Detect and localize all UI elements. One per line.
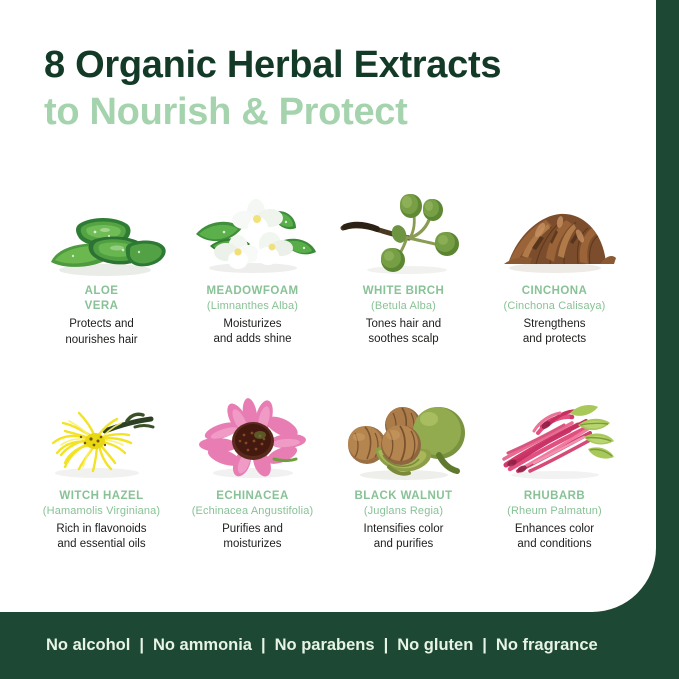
herb-description: Enhances color and conditions — [515, 522, 594, 553]
herb-description-line2: and purifies — [374, 538, 433, 550]
herb-card-rhubarb: RHUBARB (Rheum Palmatun) Enhances color … — [479, 391, 630, 596]
herb-description-line1: Strengthens — [523, 318, 585, 330]
white-left-edge-strip — [0, 0, 10, 612]
herb-description: Intensifies color and purifies — [364, 522, 444, 553]
herb-name: MEADOWFOAM — [206, 284, 298, 299]
infographic-page: 8 Organic Herbal Extracts to Nourish & P… — [0, 0, 679, 679]
herb-card-aloe-vera: ALOE VERA Protects and nourishes hair — [26, 186, 177, 391]
herb-description: Rich in flavonoids and essential oils — [56, 522, 146, 553]
herb-description-line2: soothes scalp — [368, 333, 438, 345]
herb-description-line1: Moisturizes — [223, 318, 281, 330]
herb-latin-name: (Echinacea Angustifolia) — [192, 504, 314, 518]
herb-description-line2: and protects — [523, 333, 586, 345]
herb-name: WHITE BIRCH — [363, 284, 445, 299]
herb-description: Moisturizes and adds shine — [213, 317, 291, 348]
echinacea-flower-icon — [186, 391, 320, 483]
herb-name: ALOE VERA — [85, 284, 119, 313]
herb-name: ECHINACEA — [216, 489, 288, 504]
page-title: 8 Organic Herbal Extracts — [44, 44, 634, 87]
herb-latin-name: (Hamamolis Virginiana) — [43, 504, 160, 518]
claim-separator: | — [473, 636, 496, 655]
herb-name: WITCH HAZEL — [59, 489, 143, 504]
herb-name: RHUBARB — [524, 489, 585, 504]
claim-separator: | — [375, 636, 398, 655]
herb-description-line1: Rich in flavonoids — [56, 523, 146, 535]
herb-latin-name: (Rheum Palmatun) — [507, 504, 602, 518]
herb-name: CINCHONA — [522, 284, 588, 299]
herb-name-line1: ALOE — [85, 285, 119, 297]
herb-description: Purifies and moisturizes — [222, 522, 283, 553]
claim-separator: | — [130, 636, 153, 655]
herb-card-black-walnut: BLACK WALNUT (Juglans Regia) Intensifies… — [328, 391, 479, 596]
herb-card-meadowfoam: MEADOWFOAM (Limnanthes Alba) Moisturizes… — [177, 186, 328, 391]
witch-hazel-flower-icon — [35, 391, 169, 483]
herb-latin-name: (Juglans Regia) — [364, 504, 443, 518]
aloe-vera-leaves-icon — [35, 186, 169, 278]
herb-description-line2: nourishes hair — [65, 334, 137, 346]
herb-description: Protects and nourishes hair — [65, 317, 137, 348]
claim-no-parabens: No parabens — [275, 636, 375, 655]
herb-description-line2: and adds shine — [213, 333, 291, 345]
herb-latin-name: (Limnanthes Alba) — [207, 299, 298, 313]
claim-no-alcohol: No alcohol — [46, 636, 130, 655]
herb-latin-name: (Cinchona Calisaya) — [504, 299, 606, 313]
herb-card-white-birch: WHITE BIRCH (Betula Alba) Tones hair and… — [328, 186, 479, 391]
herb-card-witch-hazel: WITCH HAZEL (Hamamolis Virginiana) Rich … — [26, 391, 177, 596]
herb-description-line1: Enhances color — [515, 523, 594, 535]
herb-description-line1: Purifies and — [222, 523, 283, 535]
cinchona-bark-icon — [488, 186, 622, 278]
herb-description-line1: Tones hair and — [366, 318, 441, 330]
herb-grid: ALOE VERA Protects and nourishes hair — [26, 186, 630, 596]
page-header: 8 Organic Herbal Extracts to Nourish & P… — [44, 44, 634, 133]
meadowfoam-flower-icon — [186, 186, 320, 278]
herb-description-line2: and conditions — [517, 538, 591, 550]
white-birch-branch-icon — [337, 186, 471, 278]
herb-description: Strengthens and protects — [523, 317, 586, 348]
herb-description-line1: Protects and — [69, 318, 134, 330]
black-walnut-icon — [337, 391, 471, 483]
herb-card-echinacea: ECHINACEA (Echinacea Angustifolia) Purif… — [177, 391, 328, 596]
herb-name-line2: VERA — [85, 300, 119, 312]
herb-description-line2: and essential oils — [57, 538, 145, 550]
page-subtitle: to Nourish & Protect — [44, 91, 634, 134]
herb-description-line2: moisturizes — [223, 538, 281, 550]
herb-description: Tones hair and soothes scalp — [366, 317, 441, 348]
claim-no-gluten: No gluten — [397, 636, 473, 655]
claims-list: No alcohol | No ammonia | No parabens | … — [46, 636, 598, 655]
claim-separator: | — [252, 636, 275, 655]
herb-description-line1: Intensifies color — [364, 523, 444, 535]
rhubarb-stalks-icon — [488, 391, 622, 483]
claims-banner: No alcohol | No ammonia | No parabens | … — [0, 612, 679, 679]
claim-no-fragrance: No fragrance — [496, 636, 598, 655]
claim-no-ammonia: No ammonia — [153, 636, 252, 655]
herb-latin-name: (Betula Alba) — [371, 299, 436, 313]
herb-name: BLACK WALNUT — [354, 489, 452, 504]
herb-card-cinchona: CINCHONA (Cinchona Calisaya) Strengthens… — [479, 186, 630, 391]
